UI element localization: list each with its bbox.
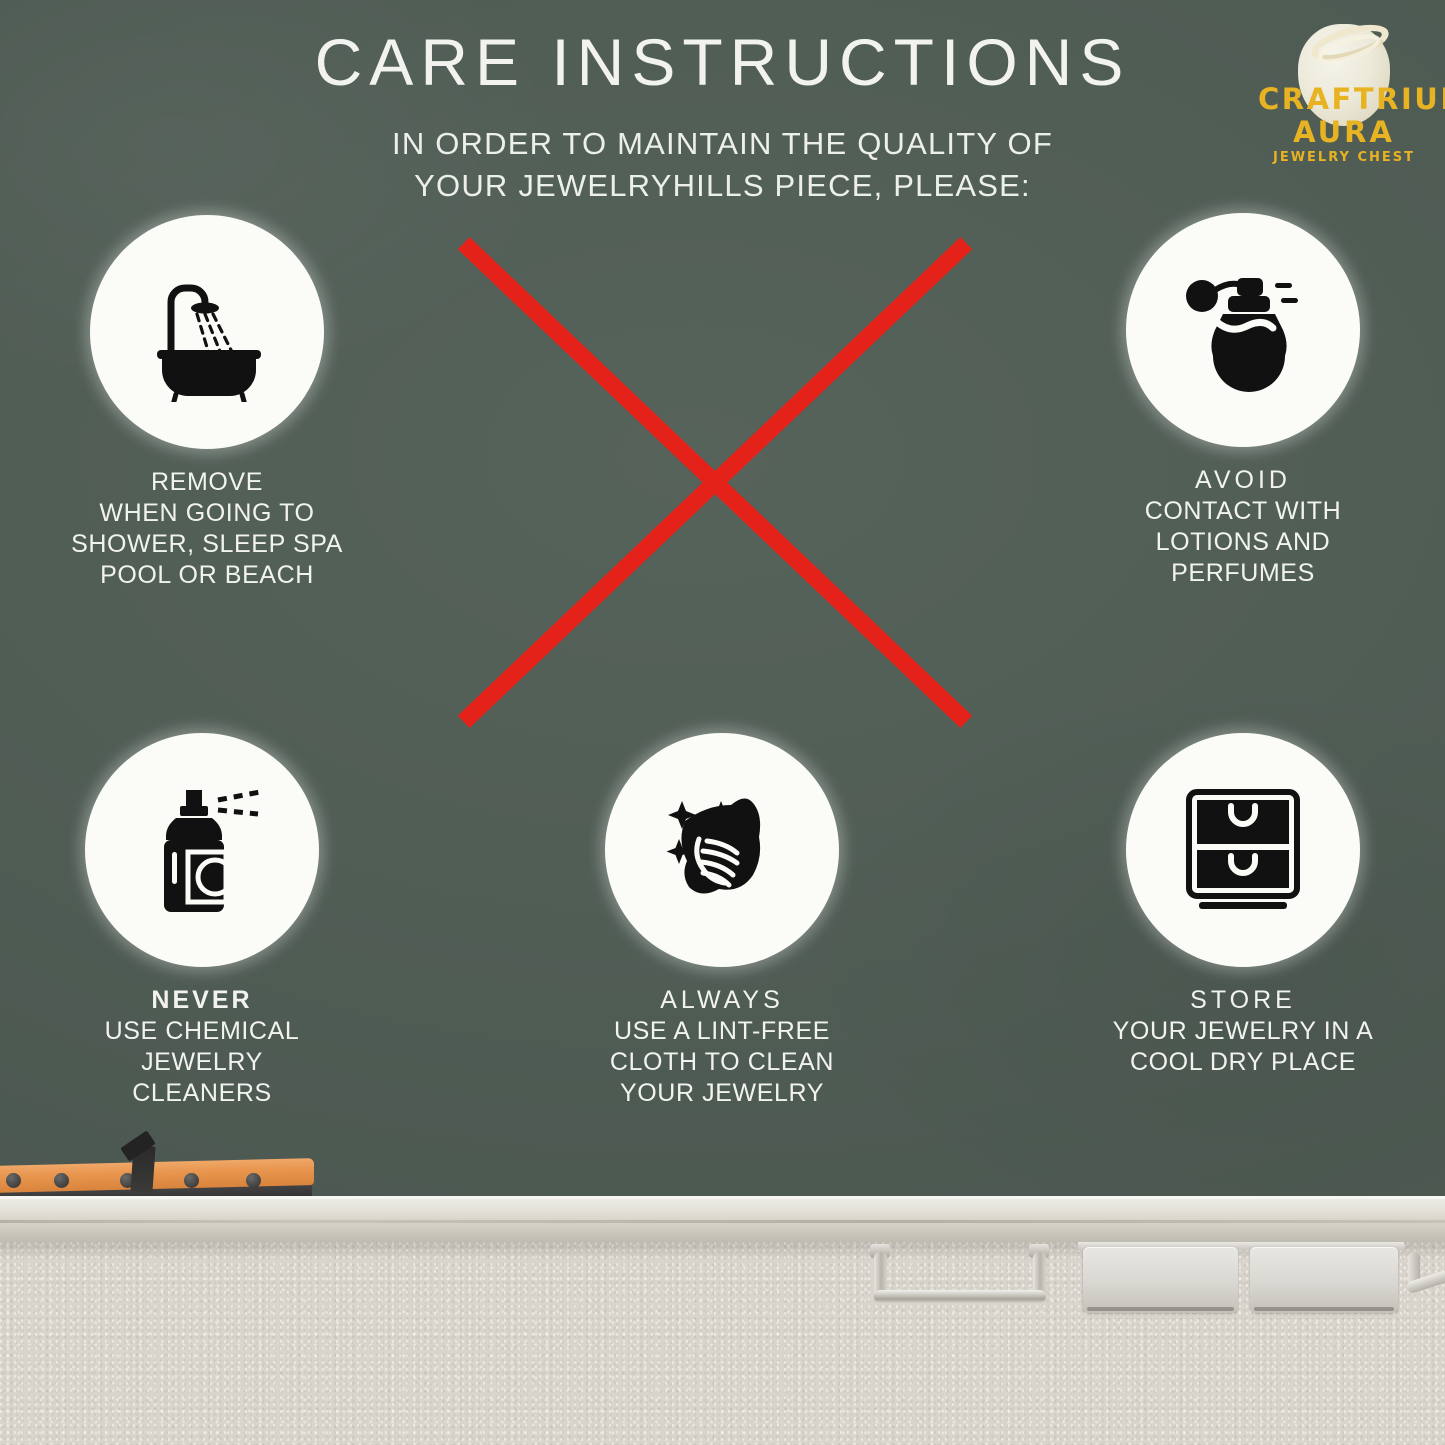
subtitle-line-2: YOUR JEWELRYHILLS PIECE, PLEASE:	[0, 165, 1445, 207]
chalkboard-tray	[0, 1196, 1445, 1242]
perfume-bottle-icon	[1173, 260, 1313, 400]
bathtub-shower-icon	[137, 262, 277, 402]
metal-hook[interactable]	[1406, 1250, 1445, 1308]
care-card-caption: AVOID CONTACT WITH LOTIONS AND PERFUMES	[1078, 465, 1408, 589]
metal-clip-plate[interactable]	[1083, 1247, 1238, 1313]
icon-badge	[90, 215, 324, 449]
card-line: USE CHEMICAL	[37, 1016, 367, 1047]
spray-can-icon	[132, 780, 272, 920]
care-card-caption: NEVER USE CHEMICAL JEWELRY CLEANERS	[37, 985, 367, 1109]
care-card-avoid-lotions: AVOID CONTACT WITH LOTIONS AND PERFUMES	[1078, 213, 1408, 589]
card-line: POOL OR BEACH	[42, 560, 372, 591]
card-line: CONTACT WITH	[1078, 496, 1408, 527]
red-x-prohibition-mark	[455, 235, 975, 730]
card-lead-word: REMOVE	[42, 467, 372, 498]
care-card-always-cloth: ALWAYS USE A LINT-FREE CLOTH TO CLEAN YO…	[557, 733, 887, 1109]
icon-badge	[605, 733, 839, 967]
eraser-rivet	[184, 1173, 199, 1188]
logo-line-1: CRAFTRIUM	[1258, 82, 1430, 116]
care-card-caption: STORE YOUR JEWELRY IN A COOL DRY PLACE	[1078, 985, 1408, 1078]
brand-logo: CRAFTRIUM AURA JEWELRY CHEST	[1258, 22, 1430, 174]
card-line: YOUR JEWELRY	[557, 1078, 887, 1109]
care-card-store-cool-dry: STORE YOUR JEWELRY IN A COOL DRY PLACE	[1078, 733, 1408, 1078]
icon-badge	[85, 733, 319, 967]
card-line: CLOTH TO CLEAN	[557, 1047, 887, 1078]
subtitle-line-1: IN ORDER TO MAINTAIN THE QUALITY OF	[0, 123, 1445, 165]
card-line: CLEANERS	[37, 1078, 367, 1109]
care-card-caption: REMOVE WHEN GOING TO SHOWER, SLEEP SPA P…	[42, 467, 372, 591]
polishing-cloth-hand-icon	[649, 777, 795, 923]
card-line: PERFUMES	[1078, 558, 1408, 589]
tray-seam	[0, 1220, 1445, 1223]
card-lead-word: NEVER	[37, 985, 367, 1016]
icon-badge	[1126, 213, 1360, 447]
tray-highlight	[0, 1196, 1445, 1199]
card-line: JEWELRY	[37, 1047, 367, 1078]
card-lead-word: ALWAYS	[557, 985, 887, 1016]
icon-badge	[1126, 733, 1360, 967]
page-title: CARE INSTRUCTIONS	[0, 28, 1445, 97]
eraser-rivet	[54, 1173, 69, 1188]
card-line: SHOWER, SLEEP SPA	[42, 529, 372, 560]
care-card-remove-shower: REMOVE WHEN GOING TO SHOWER, SLEEP SPA P…	[42, 215, 372, 591]
eraser-rivet	[6, 1173, 21, 1188]
card-line: LOTIONS AND	[1078, 527, 1408, 558]
card-lead-word: AVOID	[1078, 465, 1408, 496]
card-line: USE A LINT-FREE	[557, 1016, 887, 1047]
care-card-never-chemicals: NEVER USE CHEMICAL JEWELRY CLEANERS	[37, 733, 367, 1109]
logo-line-3: JEWELRY CHEST	[1258, 150, 1430, 165]
logo-line-2: AURA	[1258, 115, 1430, 149]
page-subtitle: IN ORDER TO MAINTAIN THE QUALITY OF YOUR…	[0, 123, 1445, 207]
metal-clip-plate[interactable]	[1250, 1247, 1398, 1313]
drawer-cabinet-icon	[1173, 780, 1313, 920]
care-card-caption: ALWAYS USE A LINT-FREE CLOTH TO CLEAN YO…	[557, 985, 887, 1109]
eraser-rivet	[246, 1173, 261, 1188]
card-line: COOL DRY PLACE	[1078, 1047, 1408, 1078]
metal-drawer-handle[interactable]	[866, 1246, 1056, 1318]
card-line: WHEN GOING TO	[42, 498, 372, 529]
card-line: YOUR JEWELRY IN A	[1078, 1016, 1408, 1047]
handle-bar	[874, 1290, 1046, 1303]
care-instructions-poster: CARE INSTRUCTIONS IN ORDER TO MAINTAIN T…	[0, 0, 1445, 1445]
card-lead-word: STORE	[1078, 985, 1408, 1016]
